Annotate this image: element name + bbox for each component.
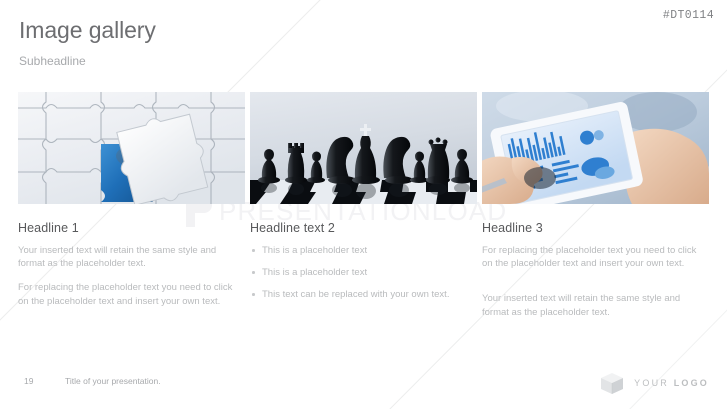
logo-placeholder[interactable]: YOUR LOGO	[599, 370, 709, 396]
column-1-headline: Headline 1	[18, 221, 245, 235]
logo-text: YOUR LOGO	[634, 378, 709, 388]
jigsaw-puzzle-photo[interactable]	[18, 92, 245, 204]
column-3-paragraph-2: Your inserted text will retain the same …	[482, 292, 709, 318]
list-item: This is a placeholder text	[250, 266, 477, 279]
column-1-body: Your inserted text will retain the same …	[18, 244, 245, 308]
logo-word-your: YOUR	[634, 378, 669, 388]
column-1-paragraph-1: Your inserted text will retain the same …	[18, 244, 245, 270]
list-item: This text can be replaced with your own …	[250, 288, 477, 301]
document-id: #DT0114	[663, 9, 714, 22]
column-1-paragraph-2: For replacing the placeholder text you n…	[18, 281, 245, 307]
chess-pieces-photo[interactable]	[250, 92, 477, 204]
column-2-headline: Headline text 2	[250, 221, 477, 235]
page-subheadline: Subheadline	[19, 54, 86, 68]
presentation-title: Title of your presentation.	[65, 376, 161, 386]
column-3-headline: Headline 3	[482, 221, 709, 235]
tablet-charts-photo[interactable]	[482, 92, 709, 204]
gallery-column-1: Headline 1 Your inserted text will retai…	[18, 92, 245, 319]
list-item: This is a placeholder text	[250, 244, 477, 257]
gallery-column-2: Headline text 2 This is a placeholder te…	[250, 92, 477, 319]
column-2-bullet-list: This is a placeholder text This is a pla…	[250, 244, 477, 302]
slide-footer: 19 Title of your presentation. YOUR LOGO	[0, 364, 727, 409]
gallery-columns: Headline 1 Your inserted text will retai…	[0, 92, 727, 319]
column-3-paragraph-1: For replacing the placeholder text you n…	[482, 244, 709, 270]
page-title: Image gallery	[19, 17, 156, 44]
cube-logo-icon	[599, 370, 625, 396]
column-3-body: For replacing the placeholder text you n…	[482, 244, 709, 319]
gallery-column-3: Headline 3 For replacing the placeholder…	[482, 92, 709, 319]
page-number: 19	[24, 376, 33, 386]
logo-word-logo: LOGO	[674, 378, 709, 388]
